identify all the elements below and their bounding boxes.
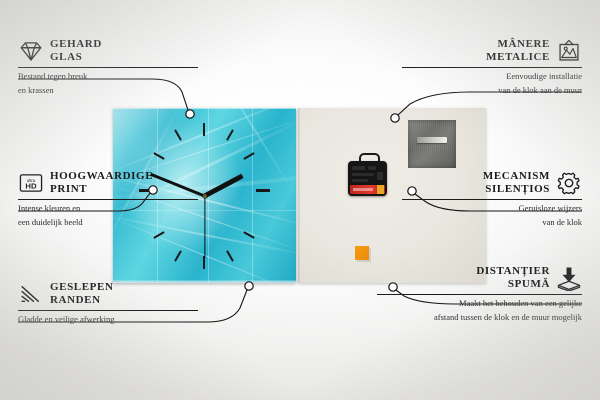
feature-desc-line2: afstand tussen de klok en de muur mogeli… [377,312,582,323]
feature-title-line1: MÂNERE [486,38,550,51]
feature-desc-line2: van de klok aan de muur [402,85,582,96]
feature-title-line1: GESLEPEN [50,281,114,294]
hanger-slot [417,137,447,143]
feature-desc-line1: Maakt het behouden van een gelijke [377,298,582,309]
divider [402,199,582,200]
divider [402,67,582,68]
feature-desc-line1: Intense kleuren en [18,203,198,214]
divider [377,294,582,295]
feature-gehard-glas[interactable]: GEHARD GLAS Bestand tegen breuk en krass… [18,38,198,96]
ultra-hd-icon: ultra HD [18,170,44,196]
feature-desc-line2: en krassen [18,85,198,96]
feature-desc-line1: Eenvoudige installatie [402,71,582,82]
feature-desc-line2: een duidelijk beeld [18,217,198,228]
feature-desc-line1: Geruisloze wijzers [402,203,582,214]
battery [350,185,385,194]
feature-title-line2: GLAS [50,51,102,64]
divider [18,199,198,200]
feature-desc-line2: van de klok [402,217,582,228]
foam-spacer-icon [556,265,582,291]
feature-manere-metalice[interactable]: MÂNERE METALICE Eenvoudige installatie v… [402,38,582,96]
feature-title-line2: SILENȚIOS [483,183,550,196]
feature-mecanism-silentios[interactable]: MECANISM SILENȚIOS Geruisloze wijzers va… [402,170,582,228]
feature-desc-line1: Gladde en veilige afwerking [18,314,198,325]
infographic-canvas: GEHARD GLAS Bestand tegen breuk en krass… [0,0,600,400]
feature-distantier-spuma[interactable]: DISTANȚIER SPUMĂ Maakt het behouden van … [377,265,582,323]
foam-spacer [355,246,369,260]
feature-title-line1: GEHARD [50,38,102,51]
feature-title-line2: PRINT [50,183,153,196]
svg-text:HD: HD [25,182,37,191]
feature-title-line1: DISTANȚIER [476,265,550,278]
diamond-icon [18,38,44,64]
mechanism-body [348,161,387,196]
clock-tick [203,123,205,136]
feature-title-line2: RANDEN [50,294,114,307]
feature-desc-line1: Bestand tegen breuk [18,71,198,82]
quartz-mechanism [348,158,387,196]
divider [18,310,198,311]
metal-hanger-plate [408,120,456,168]
clock-second-hand [204,196,205,258]
feature-title-line2: SPUMĂ [476,278,550,291]
feature-title-line1: HOOGWAARDIGE [50,170,153,183]
feature-hoogwaardige-print[interactable]: ultra HD HOOGWAARDIGE PRINT Intense kleu… [18,170,198,228]
picture-hanger-icon [556,38,582,64]
clock-center-hub [203,194,207,198]
clock-tick [256,189,270,192]
feature-geslepen-randen[interactable]: GESLEPEN RANDEN Gladde en veilige afwerk… [18,281,198,325]
gear-icon [556,170,582,196]
feature-title-line1: MECANISM [483,170,550,183]
divider [18,67,198,68]
bevelled-edge-icon [18,281,44,307]
feature-title-line2: METALICE [486,51,550,64]
